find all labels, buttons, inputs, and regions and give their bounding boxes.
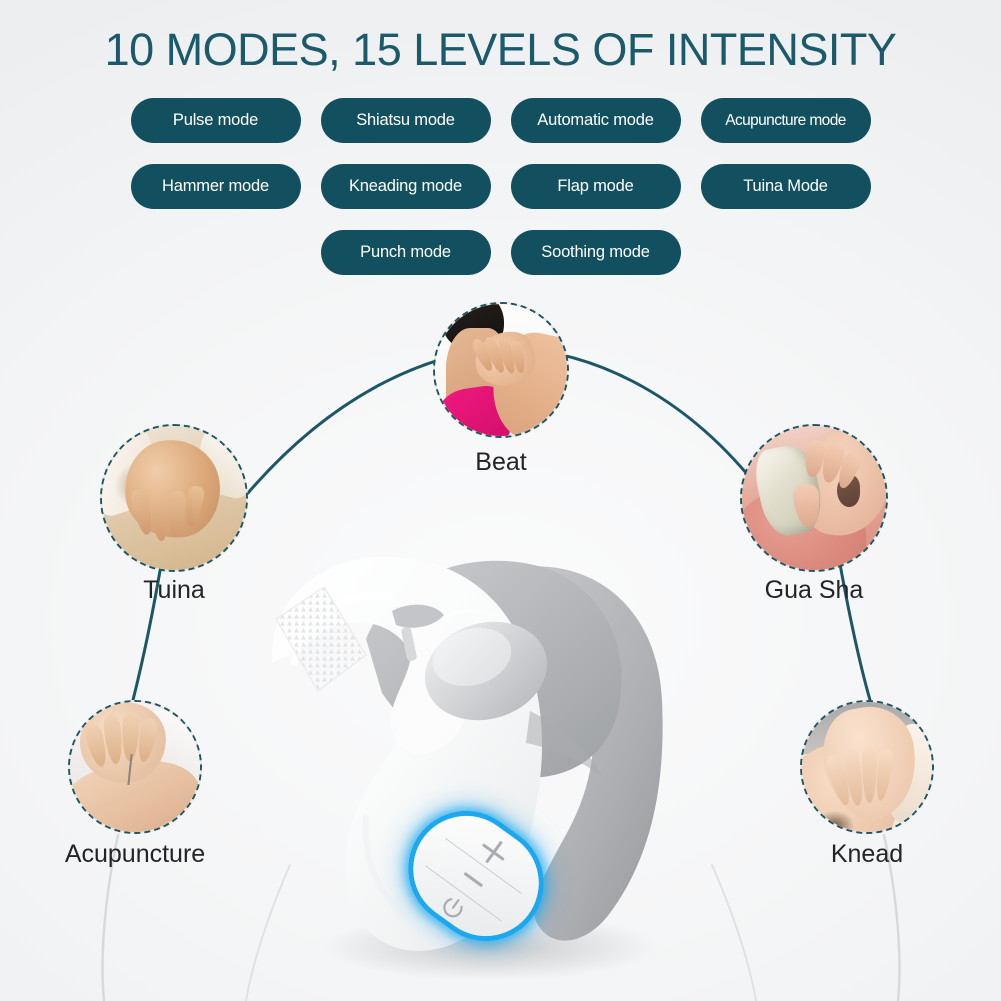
technique-label-beat: Beat	[475, 448, 526, 477]
page-title: 10 MODES, 15 LEVELS OF INTENSITY	[0, 24, 1001, 76]
acupuncture-photo	[68, 700, 202, 834]
technique-label-gua-sha: Gua Sha	[765, 576, 864, 605]
tuina-photo	[100, 424, 248, 572]
technique-node-beat[interactable]: Beat	[433, 302, 569, 438]
mode-pill-automatic[interactable]: Automatic mode	[511, 98, 681, 143]
mode-pill-shiatsu[interactable]: Shiatsu mode	[321, 98, 491, 143]
mode-pill-hammer[interactable]: Hammer mode	[131, 164, 301, 209]
mode-pill-punch[interactable]: Punch mode	[321, 230, 491, 275]
mode-pill-tuina[interactable]: Tuina Mode	[701, 164, 871, 209]
beat-photo	[433, 302, 569, 438]
mode-pill-row-1: Pulse mode Shiatsu mode Automatic mode A…	[0, 98, 1001, 143]
mode-pill-row-3: Punch mode Soothing mode	[0, 230, 1001, 275]
mode-pill-row-2: Hammer mode Kneading mode Flap mode Tuin…	[0, 164, 1001, 209]
mode-pill-flap[interactable]: Flap mode	[511, 164, 681, 209]
mode-pill-kneading[interactable]: Kneading mode	[321, 164, 491, 209]
mode-pill-soothing[interactable]: Soothing mode	[511, 230, 681, 275]
neck-massager-device	[258, 515, 698, 985]
gua-sha-photo	[740, 424, 888, 572]
mode-pill-pulse[interactable]: Pulse mode	[131, 98, 301, 143]
infographic-canvas: 10 MODES, 15 LEVELS OF INTENSITY Pulse m…	[0, 0, 1001, 1001]
technique-label-acupuncture: Acupuncture	[65, 840, 205, 869]
technique-node-gua-sha[interactable]: Gua Sha	[740, 424, 888, 572]
technique-label-knead: Knead	[831, 840, 903, 869]
knead-photo	[800, 700, 934, 834]
technique-node-acupuncture[interactable]: Acupuncture	[68, 700, 202, 834]
technique-node-tuina[interactable]: Tuina	[100, 424, 248, 572]
technique-label-tuina: Tuina	[143, 576, 205, 605]
mode-pill-group: Pulse mode Shiatsu mode Automatic mode A…	[0, 98, 1001, 296]
technique-node-knead[interactable]: Knead	[800, 700, 934, 834]
mode-pill-acupuncture[interactable]: Acupuncture mode	[701, 98, 871, 143]
